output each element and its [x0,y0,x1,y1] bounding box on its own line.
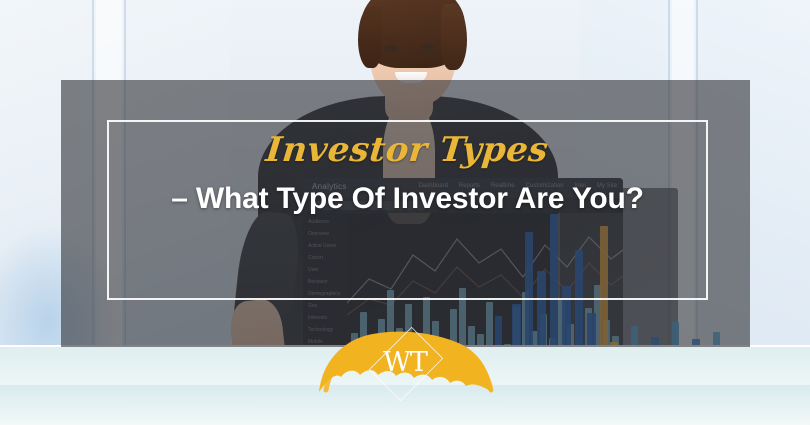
hero-headline: – What Type Of Investor Are You? [171,178,644,220]
site-logo-badge[interactable]: WT [316,322,494,404]
person-brow-right [419,35,439,39]
person-hair-left [358,6,382,68]
hero-kicker: Investor Types [264,130,550,170]
person-eye-right [421,44,435,51]
person-brow-left [381,36,401,40]
hero-banner: Analytics Dashboard Reports Realtime Cus… [0,0,810,425]
person-eye-left [384,45,398,52]
logo-monogram: WT [316,348,494,378]
hero-text-block: Investor Types – What Type Of Investor A… [107,120,708,300]
